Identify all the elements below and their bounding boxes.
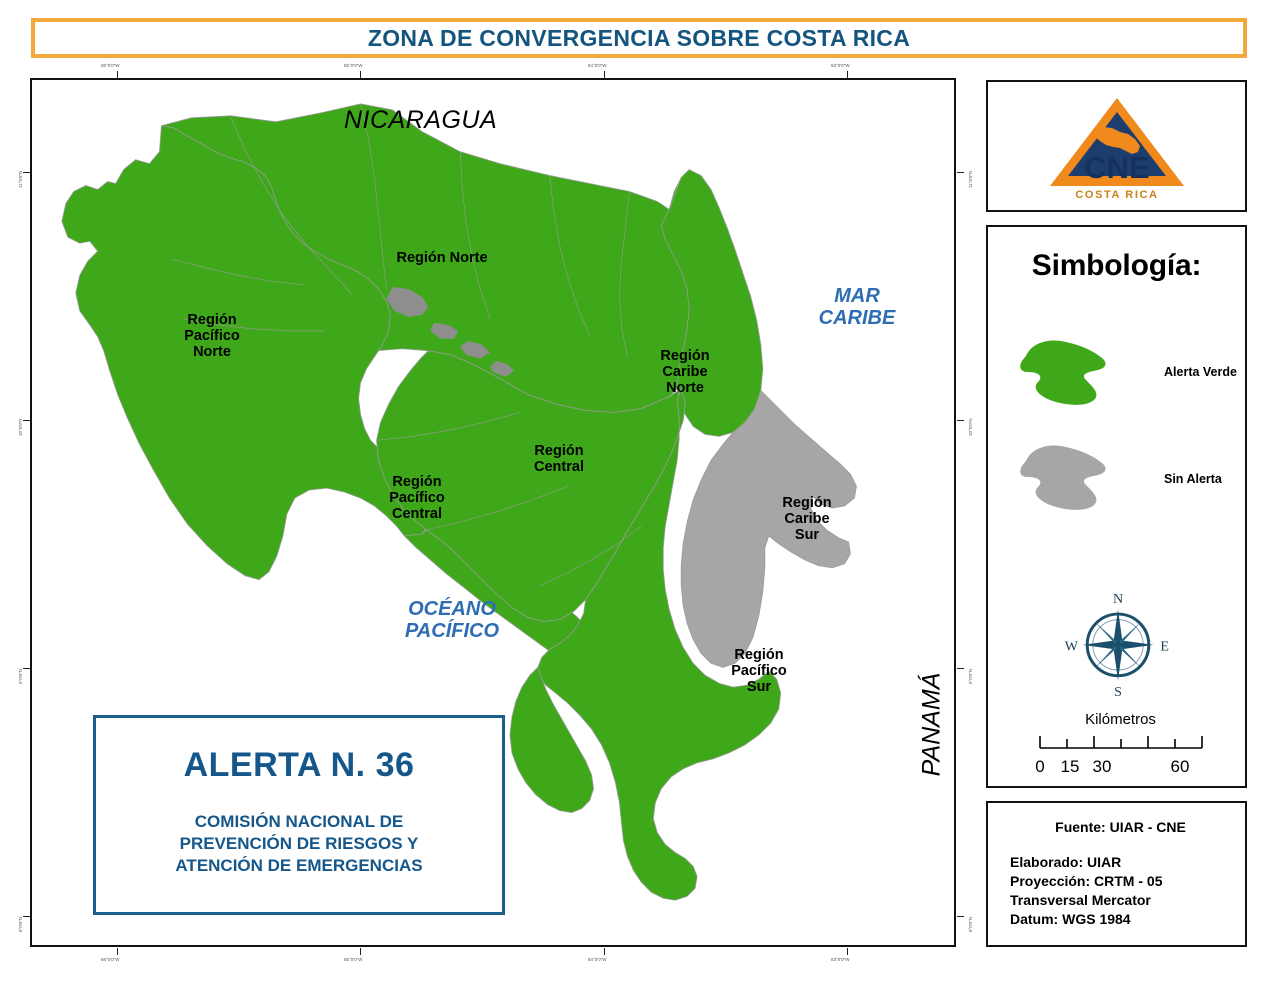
coord-bottom-3: 84°0'0"W xyxy=(588,957,607,962)
cne-logo-icon: CNE COSTA RICA xyxy=(1042,90,1192,202)
ocean-label-oceano-pacifico: OCÉANO PACÍFICO xyxy=(372,598,532,643)
source-details: Elaborado: UIAR Proyección: CRTM - 05 Tr… xyxy=(1010,853,1231,929)
scale-tick-15: 15 xyxy=(1060,757,1079,776)
cne-logo: CNE COSTA RICA xyxy=(988,82,1245,210)
tick-right-1 xyxy=(957,172,964,173)
coord-left-3: 9°0'0"N xyxy=(18,669,23,684)
tick-bottom-2 xyxy=(360,948,361,955)
scale-tick-30: 30 xyxy=(1092,757,1111,776)
source-panel: Fuente: UIAR - CNE Elaborado: UIAR Proye… xyxy=(986,801,1247,947)
coord-bottom-4: 83°0'0"W xyxy=(831,957,850,962)
tick-left-4 xyxy=(23,916,30,917)
tick-left-1 xyxy=(23,172,30,173)
tick-bottom-4 xyxy=(847,948,848,955)
legend-heading: Simbología: xyxy=(988,249,1245,283)
coord-top-4: 83°0'0"W xyxy=(831,63,850,68)
coord-top-3: 84°0'0"W xyxy=(588,63,607,68)
tick-top-2 xyxy=(360,71,361,78)
legend-swatch-alerta-verde xyxy=(1014,332,1114,410)
tick-bottom-3 xyxy=(604,948,605,955)
legend-panel: Simbología: Alerta Verde Sin Alerta N xyxy=(986,225,1247,788)
compass-label-north: N xyxy=(1113,592,1123,607)
title-banner: ZONA DE CONVERGENCIA SOBRE COSTA RICA xyxy=(31,18,1247,58)
tick-right-4 xyxy=(957,916,964,917)
logo-panel: CNE COSTA RICA xyxy=(986,80,1247,212)
compass-rose-icon: N S E W xyxy=(1062,587,1174,699)
scale-title: Kilómetros xyxy=(1018,711,1223,728)
alerta-box: ALERTA N. 36 COMISIÓN NACIONAL DE PREVEN… xyxy=(93,715,505,915)
coord-right-4: 8°0'0"N xyxy=(968,917,973,932)
compass-label-south: S xyxy=(1114,685,1122,699)
tick-right-3 xyxy=(957,668,964,669)
coord-left-4: 8°0'0"N xyxy=(18,917,23,932)
coord-bottom-2: 85°0'0"W xyxy=(344,957,363,962)
tick-right-2 xyxy=(957,420,964,421)
coord-top-2: 85°0'0"W xyxy=(344,63,363,68)
coord-bottom-1: 86°0'0"W xyxy=(101,957,120,962)
alerta-organization: COMISIÓN NACIONAL DE PREVENCIÓN DE RIESG… xyxy=(175,811,422,877)
coord-top-1: 86°0'0"W xyxy=(101,63,120,68)
legend-label-alerta-verde: Alerta Verde xyxy=(1164,365,1237,379)
country-label-nicaragua: NICARAGUA xyxy=(344,106,497,135)
tick-top-4 xyxy=(847,71,848,78)
coord-left-1: 11°0'0"N xyxy=(18,171,23,188)
map-page: ZONA DE CONVERGENCIA SOBRE COSTA RICA 86… xyxy=(0,0,1280,989)
coord-right-2: 10°0'0"N xyxy=(968,418,973,436)
tick-left-2 xyxy=(23,420,30,421)
legend-swatch-sin-alerta xyxy=(1014,437,1114,515)
logo-country-text: COSTA RICA xyxy=(1075,189,1158,201)
alerta-number: ALERTA N. 36 xyxy=(184,746,415,785)
scale-bar-graphic: 0 15 30 60 xyxy=(1032,730,1210,782)
scale-tick-60: 60 xyxy=(1170,757,1189,776)
coord-right-3: 9°0'0"N xyxy=(968,669,973,684)
coord-right-1: 11°0'0"N xyxy=(968,171,973,188)
tick-top-3 xyxy=(604,71,605,78)
coord-left-2: 10°0'0"N xyxy=(18,418,23,436)
tick-left-3 xyxy=(23,668,30,669)
compass-label-east: E xyxy=(1160,639,1169,654)
map-canvas[interactable]: NICARAGUA PANAMÁ MAR CARIBE OCÉANO PACÍF… xyxy=(30,78,956,947)
scale-bar: Kilómetros 0 15 30 60 xyxy=(1018,711,1223,782)
logo-acronym: CNE xyxy=(1084,150,1149,185)
country-label-panama: PANAMÁ xyxy=(917,673,946,777)
scale-tick-0: 0 xyxy=(1035,757,1044,776)
ocean-label-mar-caribe: MAR CARIBE xyxy=(792,285,922,330)
tick-bottom-1 xyxy=(117,948,118,955)
tick-top-1 xyxy=(117,71,118,78)
legend-label-sin-alerta: Sin Alerta xyxy=(1164,472,1222,486)
compass-label-west: W xyxy=(1065,639,1079,654)
source-heading: Fuente: UIAR - CNE xyxy=(1010,819,1231,835)
page-title: ZONA DE CONVERGENCIA SOBRE COSTA RICA xyxy=(368,25,910,52)
